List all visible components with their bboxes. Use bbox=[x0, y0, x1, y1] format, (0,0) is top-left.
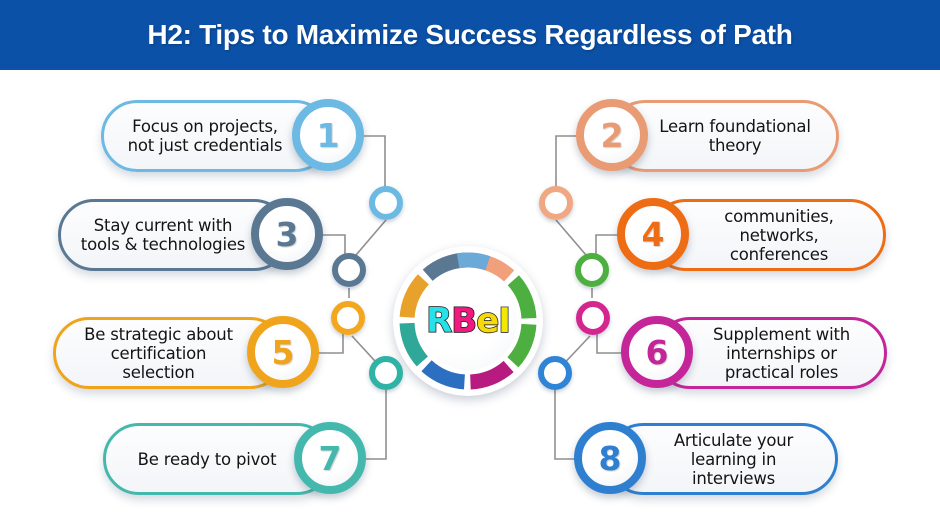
node-ring-8 bbox=[538, 356, 572, 390]
tip-item-2[interactable]: 2 Learn foundational theory bbox=[609, 100, 839, 172]
hub-logo-letter-i: I bbox=[498, 301, 510, 341]
node-ring-7 bbox=[369, 356, 403, 390]
tip-item-1-number-badge: 1 bbox=[292, 99, 364, 171]
header-bar: H2: Tips to Maximize Success Regardless … bbox=[0, 0, 940, 70]
tip-item-7-number-badge: 7 bbox=[294, 422, 366, 494]
node-ring-2 bbox=[539, 186, 573, 220]
tip-item-7[interactable]: Be ready to pivot 7 bbox=[103, 423, 333, 495]
tip-item-8[interactable]: 8 Articulate your learning in interviews bbox=[607, 423, 838, 495]
connector-hub-link-2 bbox=[556, 220, 586, 255]
node-ring-4 bbox=[575, 253, 609, 287]
node-ring-5 bbox=[331, 301, 365, 335]
hub-inner-disc: RBeI bbox=[419, 272, 517, 370]
tip-item-8-number: 8 bbox=[599, 442, 622, 475]
tip-item-4[interactable]: 4 communities, networks, conferences bbox=[650, 199, 886, 271]
hub-logo: RBeI bbox=[426, 304, 510, 338]
connector-hub-link-1 bbox=[356, 220, 386, 255]
node-ring-3 bbox=[332, 253, 366, 287]
tip-item-3-number-badge: 3 bbox=[251, 198, 323, 270]
tip-item-1-number: 1 bbox=[317, 119, 340, 152]
tip-item-5-number: 5 bbox=[272, 336, 295, 369]
tip-item-4-number: 4 bbox=[642, 218, 665, 251]
tip-item-2-number-badge: 2 bbox=[576, 99, 648, 171]
infographic-canvas: RBeI Focus on projects, not just credent… bbox=[0, 70, 940, 529]
node-ring-6 bbox=[576, 301, 610, 335]
tip-item-5[interactable]: Be strategic about certification selecti… bbox=[53, 317, 286, 389]
tip-item-5-number-badge: 5 bbox=[247, 316, 319, 388]
hub-logo-letter-r: R bbox=[426, 301, 451, 341]
hub-logo-letter-e: e bbox=[476, 301, 498, 341]
hub-logo-letter-b: B bbox=[451, 301, 476, 341]
tip-item-3-number: 3 bbox=[276, 218, 299, 251]
tip-item-4-number-badge: 4 bbox=[617, 198, 689, 270]
tip-item-6-number: 6 bbox=[646, 336, 669, 369]
tip-item-1[interactable]: Focus on projects, not just credentials … bbox=[101, 100, 331, 172]
tip-item-7-number: 7 bbox=[319, 442, 342, 475]
center-hub: RBeI bbox=[393, 246, 543, 396]
tip-item-6-number-badge: 6 bbox=[621, 316, 693, 388]
tip-item-2-number: 2 bbox=[601, 119, 624, 152]
node-ring-1 bbox=[369, 186, 403, 220]
tip-item-3[interactable]: Stay current with tools & technologies 3 bbox=[58, 199, 290, 271]
page-title: H2: Tips to Maximize Success Regardless … bbox=[147, 19, 792, 51]
tip-item-6[interactable]: 6 Supplement with internships or practic… bbox=[654, 317, 887, 389]
tip-item-8-number-badge: 8 bbox=[574, 422, 646, 494]
